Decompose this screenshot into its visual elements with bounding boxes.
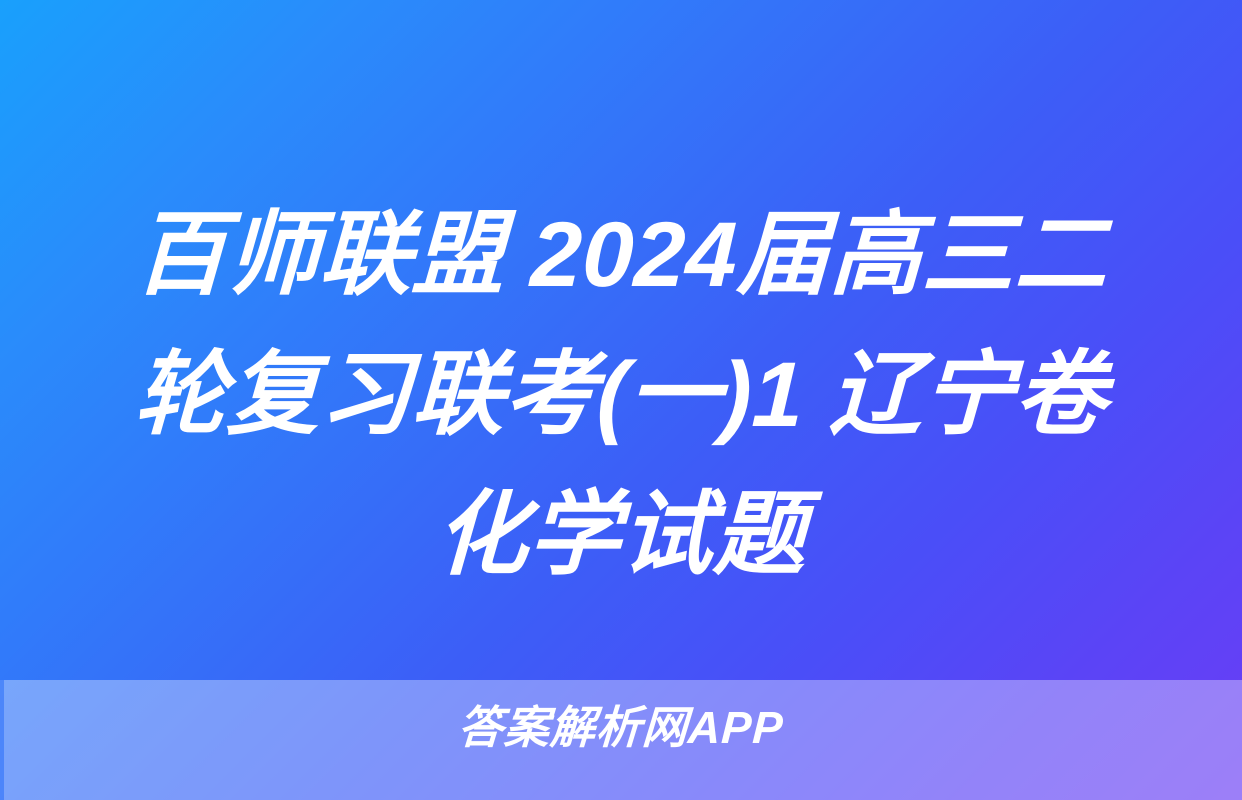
title-line-2: 轮复习联考(一)1 辽宁卷 [62,326,1181,466]
exam-cover-card: 百师联盟 2024届高三二 轮复习联考(一)1 辽宁卷 化学试题 答案解析网AP… [0,0,1242,800]
page-title: 百师联盟 2024届高三二 轮复习联考(一)1 辽宁卷 化学试题 [0,186,1242,605]
title-line-3: 化学试题 [62,466,1181,606]
watermark-label: 答案解析网APP [457,705,785,750]
title-line-1: 百师联盟 2024届高三二 [62,186,1181,326]
watermark: 答案解析网APP [0,705,1242,750]
